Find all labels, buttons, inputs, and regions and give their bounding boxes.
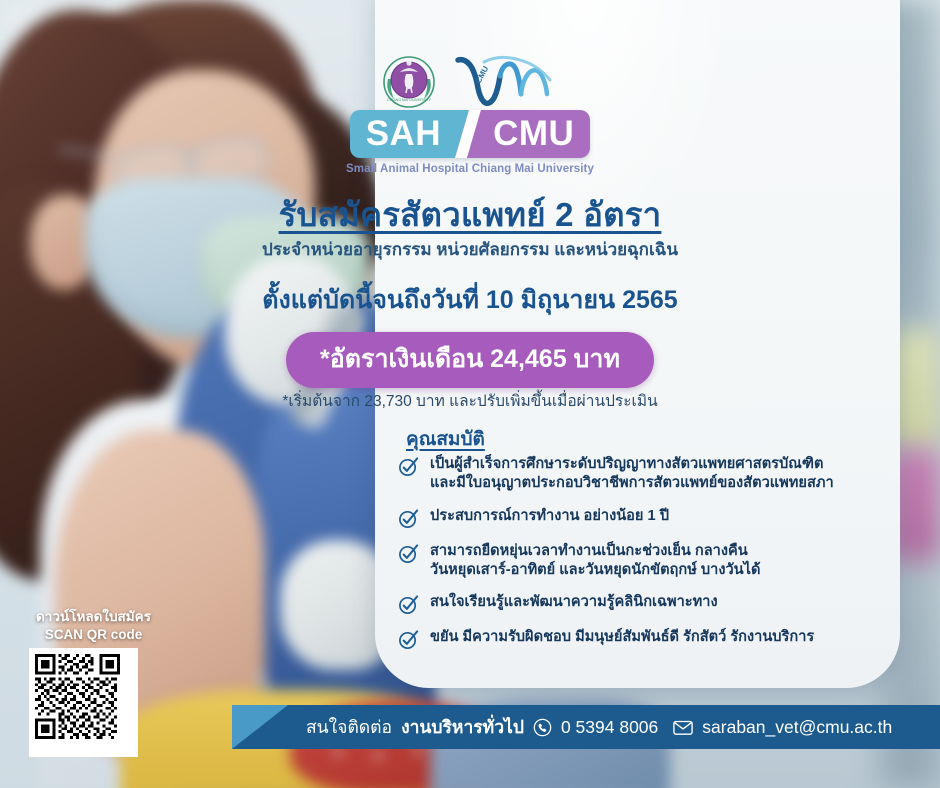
list-item-label: เป็นผู้สำเร็จการศึกษาระดับปริญญาทางสัตวแ… bbox=[430, 455, 834, 494]
check-circle-icon bbox=[398, 508, 419, 529]
qualifications-list: เป็นผู้สำเร็จการศึกษาระดับปริญญาทางสัตวแ… bbox=[398, 455, 888, 663]
contact-phone: 0 5394 8006 bbox=[561, 717, 658, 738]
qualifications-heading: คุณสมบัติ bbox=[406, 424, 485, 454]
contact-email: saraban_vet@cmu.ac.th bbox=[702, 717, 892, 738]
list-item-label: สามารถยืดหยุ่นเวลาทำงานเป็นกะช่วงเย็น กล… bbox=[430, 542, 760, 581]
hospital-tagline: Small Animal Hospital Chiang Mai Univers… bbox=[0, 163, 940, 175]
page-title: รับสมัครสัตวแพทย์ 2 อัตรา bbox=[0, 188, 940, 241]
logo-row: CHIANG MAI UNIVERSITY CMU bbox=[0, 54, 940, 110]
recruitment-poster: CHIANG MAI UNIVERSITY CMU SAH bbox=[0, 0, 940, 788]
slash-divider bbox=[455, 110, 481, 158]
svg-text:CMU: CMU bbox=[474, 64, 491, 85]
list-item-label: ประสบการณ์การทำงาน อย่างน้อย 1 ปี bbox=[430, 507, 669, 526]
list-item: ประสบการณ์การทำงาน อย่างน้อย 1 ปี bbox=[398, 507, 888, 529]
check-circle-icon bbox=[398, 594, 419, 615]
sah-cmu-bar: SAH CMU bbox=[350, 110, 591, 158]
qr-label-line2: SCAN QR code bbox=[26, 626, 161, 644]
vm-logo-icon: CMU bbox=[450, 54, 558, 110]
list-item-label: ขยัน มีความรับผิดชอบ มีมนุษย์สัมพันธ์ดี … bbox=[430, 628, 814, 647]
qr-label: ดาวน์โหลดใบสมัคร SCAN QR code bbox=[26, 608, 161, 644]
subtitle: ประจำหน่วยอายุรกรรม หน่วยศัลยกรรม และหน่… bbox=[0, 236, 940, 263]
qr-code[interactable] bbox=[29, 648, 138, 757]
list-item: เป็นผู้สำเร็จการศึกษาระดับปริญญาทางสัตวแ… bbox=[398, 455, 888, 494]
list-item: สนใจเรียนรู้และพัฒนาความรู้คลินิกเฉพาะทา… bbox=[398, 593, 888, 615]
contact-department: งานบริหารทั่วไป bbox=[401, 713, 524, 741]
email-icon bbox=[673, 719, 693, 736]
sah-cmu-wordmark: SAH CMU Small Animal Hospital Chiang Mai… bbox=[0, 110, 940, 175]
cmu-faculty-emblem-icon: CHIANG MAI UNIVERSITY bbox=[382, 55, 436, 109]
contact-bar-accent bbox=[232, 705, 288, 749]
cmu-label: CMU bbox=[481, 110, 590, 158]
check-circle-icon bbox=[398, 543, 419, 564]
salary-pill-wrap: *อัตราเงินเดือน 24,465 บาท bbox=[0, 332, 940, 388]
check-circle-icon bbox=[398, 456, 419, 477]
phone-icon bbox=[533, 718, 552, 737]
contact-content: สนใจติดต่อ งานบริหารทั่วไป 0 5394 8006 s… bbox=[306, 705, 892, 749]
check-circle-icon bbox=[398, 629, 419, 650]
sah-label: SAH bbox=[350, 110, 455, 158]
svg-text:CHIANG MAI UNIVERSITY: CHIANG MAI UNIVERSITY bbox=[387, 98, 432, 102]
deadline-text: ตั้งแต่บัดนี้จนถึงวันที่ 10 มิถุนายน 256… bbox=[0, 280, 940, 320]
list-item: ขยัน มีความรับผิดชอบ มีมนุษย์สัมพันธ์ดี … bbox=[398, 628, 888, 650]
qr-label-line1: ดาวน์โหลดใบสมัคร bbox=[26, 608, 161, 626]
list-item: สามารถยืดหยุ่นเวลาทำงานเป็นกะช่วงเย็น กล… bbox=[398, 542, 888, 581]
salary-note: *เริ่มต้นจาก 23,730 บาท และปรับเพิ่มขึ้น… bbox=[0, 388, 940, 413]
salary-badge: *อัตราเงินเดือน 24,465 บาท bbox=[286, 332, 654, 388]
contact-prefix: สนใจติดต่อ bbox=[306, 713, 392, 741]
list-item-label: สนใจเรียนรู้และพัฒนาความรู้คลินิกเฉพาะทา… bbox=[430, 593, 718, 612]
